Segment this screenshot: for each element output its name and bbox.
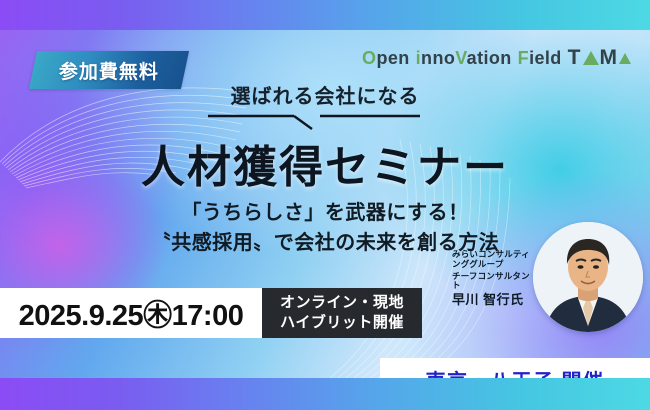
logo-word-inno: nno [421, 48, 455, 68]
logo-word-ation: ation [467, 48, 512, 68]
speaker-avatar [533, 222, 643, 332]
logo-triangle-a2-icon [619, 53, 631, 64]
logo-letter-t: T [568, 46, 582, 70]
logo-word-field-tail: ield [529, 48, 562, 68]
speaker-portrait-illustration [533, 222, 643, 332]
kicker-text: 選ばれる会社になる [0, 80, 650, 109]
logo-letter-v: V [455, 48, 466, 68]
logo-word-tama: TM [568, 46, 632, 70]
event-datetime: 2025.9.25㊍17:00 [19, 292, 244, 334]
logo-triangle-a1-icon [583, 51, 599, 65]
page-title: 人材獲得セミナー [0, 131, 650, 195]
logo-word-open: Open [362, 48, 410, 69]
event-format-line-1: オンライン・現地 [280, 294, 404, 313]
bottom-gradient-strip [0, 378, 650, 410]
decorative-rule [208, 112, 420, 130]
open-innovation-field-tama-logo: Open innoVation Field TM [362, 46, 632, 70]
speaker-name: 早川 智行氏 [452, 293, 538, 308]
subtitle-line-1: 「うちらしさ」を武器にする！ [0, 196, 650, 225]
event-format-line-2: ハイブリット開催 [280, 314, 404, 333]
speaker-organization: みらいコンサルティンググループ [452, 250, 538, 270]
logo-letter-o: O [362, 48, 376, 68]
top-gradient-strip [0, 0, 650, 30]
event-format-bar: オンライン・現地 ハイブリット開催 [262, 288, 422, 338]
logo-word-field: Field [518, 48, 562, 69]
seminar-banner: 参加費無料 Open innoVation Field TM 選ばれる会社になる… [0, 0, 650, 410]
logo-word-innovation: innoVation [416, 48, 512, 69]
speaker-info: みらいコンサルティンググループ チーフコンサルタント 早川 智行氏 [452, 250, 538, 308]
logo-letter-f: F [518, 48, 529, 68]
event-date-bar: 2025.9.25㊍17:00 [0, 288, 262, 338]
speaker-role: チーフコンサルタント [452, 272, 538, 292]
logo-word-open-tail: pen [376, 48, 409, 68]
logo-letter-m: M [600, 46, 619, 70]
